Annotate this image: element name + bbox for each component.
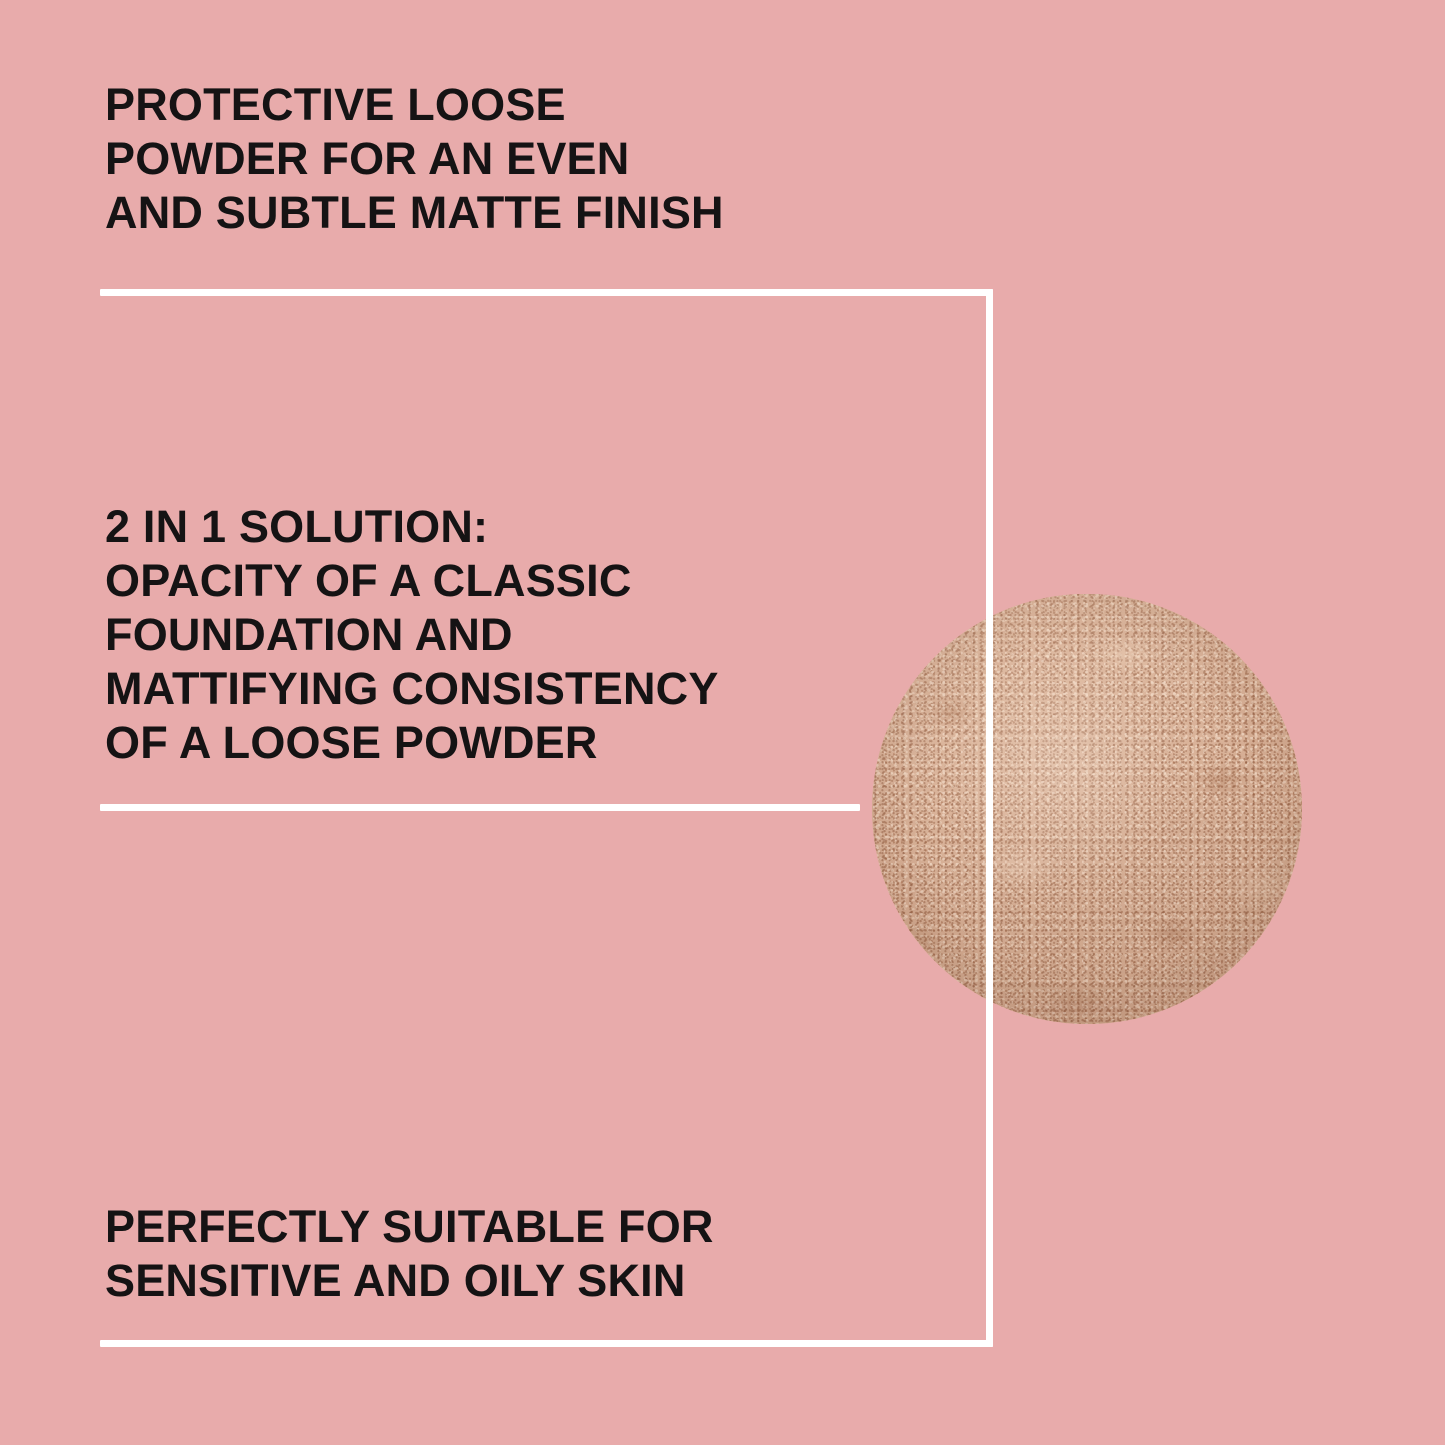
horizontal-rule-bottom [100, 1340, 993, 1347]
powder-well [872, 594, 1301, 1025]
headline-protective-loose-powder: PROTECTIVE LOOSE POWDER FOR AN EVEN AND … [105, 78, 865, 240]
horizontal-rule-middle [100, 804, 860, 811]
vertical-rule-right [986, 289, 993, 1347]
loose-powder-jar-image [822, 543, 1352, 1075]
horizontal-rule-top [100, 289, 993, 296]
headline-2-in-1-solution: 2 IN 1 SOLUTION: OPACITY OF A CLASSIC FO… [105, 500, 885, 770]
marketing-banner: PROTECTIVE LOOSE POWDER FOR AN EVEN AND … [0, 0, 1445, 1445]
headline-suitable-sensitive-oily-skin: PERFECTLY SUITABLE FOR SENSITIVE AND OIL… [105, 1200, 885, 1308]
powder-shading [872, 594, 1301, 1025]
